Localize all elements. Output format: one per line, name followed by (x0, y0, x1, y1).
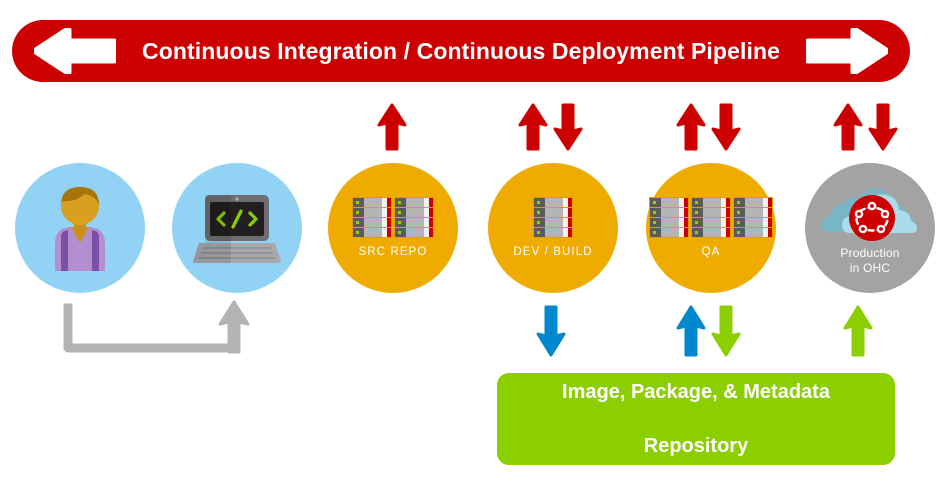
arrow-up-repository-to-production (843, 305, 873, 357)
arrow-down-repository-to-qa (711, 305, 741, 357)
page-title: Continuous Integration / Continuous Depl… (142, 38, 780, 65)
arrow-left-icon (34, 28, 116, 74)
repository-box[interactable]: Image, Package, & Metadata Repository (497, 373, 895, 465)
node-label-production-line1: Production (840, 246, 899, 261)
arrow-down-dev-build-to-repository (536, 305, 566, 357)
arrow-up-dev-build (518, 103, 548, 151)
node-label-production: Production in OHC (840, 246, 899, 277)
node-production[interactable]: Production in OHC (805, 163, 935, 293)
laptop-code-icon (191, 193, 283, 263)
repository-label-line1: Image, Package, & Metadata (562, 379, 830, 406)
arrow-up-qa-to-repository (676, 305, 706, 357)
server-rack-icon (533, 197, 573, 238)
pipeline-banner: Continuous Integration / Continuous Depl… (12, 20, 910, 82)
node-developer[interactable] (15, 163, 145, 293)
server-rack-icon (649, 197, 773, 238)
node-label-production-line2: in OHC (840, 261, 899, 276)
arrow-up-qa (676, 103, 706, 151)
arrow-down-dev-build (553, 103, 583, 151)
node-qa[interactable]: QA (646, 163, 776, 293)
arrow-down-production (868, 103, 898, 151)
repository-label-line2: Repository (562, 433, 830, 460)
node-workstation[interactable] (172, 163, 302, 293)
repository-label: Image, Package, & Metadata Repository (562, 352, 830, 487)
person-icon (41, 185, 119, 271)
node-label-src-repo: SRC REPO (359, 245, 428, 260)
connector-developer-to-workstation (62, 300, 252, 362)
server-rack-icon (352, 197, 434, 238)
arrow-right-icon (806, 28, 888, 74)
node-label-dev-build: DEV / BUILD (513, 245, 592, 260)
cloud-openshift-icon (822, 180, 918, 242)
node-label-qa: QA (702, 245, 721, 260)
node-dev-build[interactable]: DEV / BUILD (488, 163, 618, 293)
arrow-up-production (833, 103, 863, 151)
cicd-pipeline-diagram: Continuous Integration / Continuous Depl… (0, 0, 941, 500)
node-src-repo[interactable]: SRC REPO (328, 163, 458, 293)
arrow-down-qa (711, 103, 741, 151)
arrow-up-src-repo (377, 103, 407, 151)
